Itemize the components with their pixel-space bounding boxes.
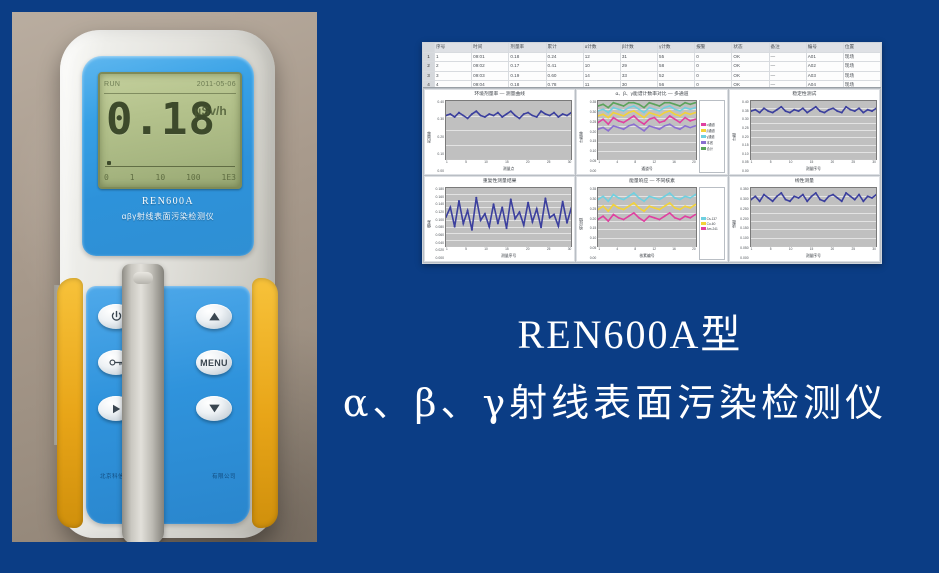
chart-series-point <box>810 109 812 111</box>
spreadsheet-cell: A03 <box>807 72 844 81</box>
chart-plot-area <box>597 100 696 160</box>
chart-series-point <box>536 116 538 118</box>
spreadsheet-cell: 0 <box>695 53 732 62</box>
chart-x-tick: 1 <box>446 160 448 167</box>
chart-series-point <box>639 217 641 219</box>
chart-y-ticks: 0.350.300.250.200.150.100.050.00 <box>584 187 597 260</box>
chart-legend: Cs-137Co-60Am-241 <box>699 187 725 260</box>
chart-series-point <box>613 102 615 104</box>
chart-series-point <box>784 199 786 201</box>
chart-series-line <box>598 213 695 221</box>
chart-series-point <box>549 115 551 117</box>
chart-x-tick: 4 <box>616 247 618 254</box>
chart-y-tick: 0.10 <box>737 152 749 156</box>
spreadsheet-cell: 09:03 <box>472 72 509 81</box>
lcd-status-left: RUN <box>104 81 120 88</box>
chart-series-point <box>562 113 564 115</box>
chart-series-point <box>664 125 666 127</box>
chart-x-ticks: 151015202530 <box>750 160 877 167</box>
chart-series-point <box>664 107 666 109</box>
chart-series-point <box>669 102 671 104</box>
chart-series-svg <box>598 188 695 246</box>
down-button[interactable] <box>196 396 232 421</box>
chart-series-point <box>497 112 499 114</box>
chart-x-tick: 10 <box>789 160 793 167</box>
chart-series-point <box>674 113 676 115</box>
chart-y-tick: 0.150 <box>737 226 749 230</box>
chart-series-point <box>557 116 559 118</box>
device-grip-pad-left <box>57 278 83 528</box>
spreadsheet-row: 3309:030.190.601433520OK—A03现场 <box>423 72 881 82</box>
chart-x-tick: 20 <box>526 160 530 167</box>
chart-series-point <box>832 194 834 196</box>
spreadsheet-cell: 09:02 <box>472 62 509 71</box>
chart-series-point <box>608 117 610 119</box>
chart-series-point <box>480 219 482 221</box>
chart-y-tick: 0.15 <box>584 226 596 230</box>
chart-series-point <box>506 227 508 229</box>
spreadsheet-header-row: 序号时间剂量率累计α计数β计数γ计数报警状态备注编号位置 <box>423 43 881 53</box>
chart-series-point <box>871 197 873 199</box>
chart-series-point <box>690 217 692 219</box>
chart-series-line <box>751 193 876 201</box>
lcd-scale-tick: 10 <box>156 173 166 182</box>
chart-series-point <box>679 128 681 130</box>
chart-series-point <box>659 199 661 201</box>
chart-y-tick: 0.25 <box>584 207 596 211</box>
chart-y-tick: 0.180 <box>432 187 444 191</box>
chart-y-tick: 0.20 <box>584 130 596 134</box>
chart-y-tick: 0.00 <box>737 169 749 173</box>
chart-series-point <box>608 220 610 222</box>
chart-series-point <box>484 213 486 215</box>
chart-series-point <box>628 125 630 127</box>
lcd-reading-unit: μSv/h <box>194 104 227 118</box>
chart-y-tick: 0.100 <box>737 236 749 240</box>
chart-series-point <box>669 115 671 117</box>
chart-series-point <box>669 212 671 214</box>
spreadsheet-cell: 0 <box>695 72 732 81</box>
chart-series-point <box>649 215 651 217</box>
chart-series-point <box>639 103 641 105</box>
chart-series-point <box>608 112 610 114</box>
chart-series-point <box>802 107 804 109</box>
chart-plot-area <box>445 187 572 247</box>
spreadsheet-header-cell: 备注 <box>770 43 807 52</box>
spreadsheet-row: 2209:020.170.411029580OK—A02现场 <box>423 62 881 72</box>
chart-series-point <box>862 200 864 202</box>
chart-x-tick: 20 <box>692 247 696 254</box>
chart-gridline <box>751 246 876 247</box>
chart-legend-swatch <box>701 141 706 144</box>
chart-y-tick: 0.250 <box>737 207 749 211</box>
chart-series-point <box>823 200 825 202</box>
chart-y-tick: 0.35 <box>584 100 596 104</box>
chart-series-point <box>836 197 838 199</box>
chart-plot-area <box>445 100 572 160</box>
chart-series-point <box>685 125 687 127</box>
chart-series-point <box>644 200 646 202</box>
chart-x-tick: 5 <box>770 160 772 167</box>
chart-series-point <box>613 125 615 127</box>
chart-x-ticks: 151015202530 <box>750 247 877 254</box>
spreadsheet-header-cell: γ计数 <box>658 43 695 52</box>
chart-series-point <box>608 130 610 132</box>
spreadsheet-cell: 0.78 <box>547 81 584 88</box>
chart-series-point <box>623 199 625 201</box>
chart-title: 环境剂量率 — 测量曲线 <box>425 90 574 100</box>
chart-legend-swatch <box>701 129 706 132</box>
chart-series-point <box>536 208 538 210</box>
chart-series-point <box>819 199 821 201</box>
chart-series-point <box>685 102 687 104</box>
spreadsheet-cell: 3 <box>435 72 472 81</box>
chart-series-point <box>540 110 542 112</box>
lcd-scale-tick: 100 <box>186 173 200 182</box>
chart-series-point <box>484 116 486 118</box>
chart-series-line <box>598 103 695 108</box>
chart-panel: 重复性测量结果偏差0.1800.1600.1400.1200.1000.0800… <box>424 176 575 262</box>
chart-y-ticks: 0.400.300.200.100.00 <box>432 100 445 173</box>
lcd-scale-tick: 0 <box>104 173 109 182</box>
product-photo: RUN 2011-05-06 0.18 μSv/h 01101001E3 REN… <box>12 12 317 560</box>
chart-legend-item: Am-241 <box>701 227 723 231</box>
chart-x-axis-title: 测量点 <box>445 167 572 173</box>
chart-series-point <box>633 115 635 117</box>
chart-series-point <box>531 115 533 117</box>
lcd-bargraph <box>105 162 235 167</box>
chart-series-point <box>608 107 610 109</box>
spreadsheet-cell: 现场 <box>844 53 881 62</box>
chart-y-ticks: 0.350.300.250.200.150.100.050.00 <box>584 100 597 173</box>
chart-series-point <box>674 118 676 120</box>
device-grip-pad-right <box>252 278 278 528</box>
chart-series-point <box>654 127 656 129</box>
chart-series-point <box>603 195 605 197</box>
title-block: REN600A型 α、β、γ射线表面污染检测仪 <box>300 310 930 429</box>
chart-series-svg <box>751 188 876 246</box>
chart-series-point <box>840 200 842 202</box>
chart-series-point <box>603 118 605 120</box>
chart-series-point <box>690 120 692 122</box>
chart-plot-wrap: 148121620核素编号 <box>597 187 696 260</box>
chart-series-point <box>608 210 610 212</box>
chart-series-point <box>633 192 635 194</box>
spreadsheet-cell: — <box>770 72 807 81</box>
chart-series-point <box>639 120 641 122</box>
chart-series-point <box>471 229 473 231</box>
spreadsheet-cell: 58 <box>658 62 695 71</box>
spreadsheet-cell: 11 <box>584 81 621 88</box>
data-spreadsheet: 序号时间剂量率累计α计数β计数γ计数报警状态备注编号位置1109:010.180… <box>423 43 881 88</box>
chart-legend-item: γ通道 <box>701 134 723 139</box>
chart-series-point <box>562 201 564 203</box>
chart-series-point <box>866 109 868 111</box>
chart-y-ticks: 0.400.350.300.250.200.150.100.050.00 <box>737 100 750 173</box>
menu-button[interactable]: MENU <box>196 350 232 375</box>
chart-series-point <box>449 113 451 115</box>
up-button[interactable] <box>196 304 232 329</box>
chart-legend-item: 本底 <box>701 140 723 145</box>
chart-gridline <box>598 159 695 160</box>
chart-y-tick: 0.35 <box>737 109 749 113</box>
chart-x-tick: 4 <box>616 160 618 167</box>
chart-gridline <box>446 246 571 247</box>
product-title-sub: α、β、γ射线表面污染检测仪 <box>300 378 930 429</box>
chart-series-point <box>649 112 651 114</box>
chart-x-tick: 8 <box>634 160 636 167</box>
chart-series-point <box>618 197 620 199</box>
chart-y-tick: 0.30 <box>584 197 596 201</box>
chart-legend-item: Cs-137 <box>701 217 723 221</box>
chart-series-point <box>664 215 666 217</box>
chart-series-point <box>659 105 661 107</box>
chart-y-tick: 0.020 <box>432 248 444 252</box>
spreadsheet-header-cell: 剂量率 <box>509 43 546 52</box>
chart-series-point <box>664 195 666 197</box>
chart-series-point <box>644 107 646 109</box>
spreadsheet-cell: 56 <box>658 81 695 88</box>
chart-panel: 线性测量读数0.3500.3000.2500.2000.1500.1000.05… <box>729 176 880 262</box>
chart-series-point <box>603 127 605 129</box>
chart-series-point <box>467 210 469 212</box>
chart-series-point <box>454 116 456 118</box>
chart-series-point <box>679 115 681 117</box>
chart-series-point <box>832 107 834 109</box>
chart-series-point <box>603 113 605 115</box>
chart-series-point <box>510 110 512 112</box>
chart-panel: α、β、γ能谱计数率对比 — 多通道计数率0.350.300.250.200.1… <box>576 89 727 175</box>
spreadsheet-cell: 0.19 <box>509 72 546 81</box>
chart-series-svg <box>598 101 695 159</box>
chart-series-point <box>810 195 812 197</box>
chart-series-point <box>623 122 625 124</box>
chart-series-point <box>628 205 630 207</box>
chart-series-point <box>659 115 661 117</box>
chart-series-point <box>628 215 630 217</box>
triangle-up-icon <box>208 311 221 322</box>
chart-series-point <box>690 103 692 105</box>
chart-series-svg <box>751 101 876 159</box>
spreadsheet-header-cell: 状态 <box>732 43 769 52</box>
chart-body: 计数率0.350.300.250.200.150.100.050.0014812… <box>577 100 726 174</box>
chart-x-axis-title: 核素编号 <box>597 254 696 260</box>
spreadsheet-row-index <box>423 43 435 52</box>
chart-series-point <box>664 120 666 122</box>
chart-series-point <box>544 113 546 115</box>
chart-legend-label: γ通道 <box>707 134 715 139</box>
chart-series-point <box>618 108 620 110</box>
chart-x-tick: 20 <box>692 160 696 167</box>
chart-gridline <box>598 246 695 247</box>
chart-series-point <box>633 105 635 107</box>
chart-x-tick: 15 <box>505 247 509 254</box>
chart-series-point <box>475 110 477 112</box>
chart-series-point <box>458 112 460 114</box>
chart-series-point <box>488 113 490 115</box>
spreadsheet-header-cell: 报警 <box>695 43 732 52</box>
chart-x-tick: 25 <box>852 247 856 254</box>
chart-series-point <box>690 108 692 110</box>
chart-x-tick: 8 <box>634 247 636 254</box>
chart-y-tick: 0.10 <box>432 152 444 156</box>
spreadsheet-cell: 0.18 <box>509 81 546 88</box>
chart-series-point <box>853 199 855 201</box>
spreadsheet-cell: 0.18 <box>509 53 546 62</box>
spreadsheet-cell: 0 <box>695 81 732 88</box>
chart-x-tick: 25 <box>852 160 856 167</box>
chart-series-point <box>633 110 635 112</box>
menu-button-label: MENU <box>200 358 228 368</box>
device-faceplate-top: RUN 2011-05-06 0.18 μSv/h 01101001E3 REN… <box>82 56 254 256</box>
chart-x-axis-title: 测量序号 <box>750 254 877 260</box>
chart-y-tick: 0.140 <box>432 202 444 206</box>
chart-series-point <box>514 218 516 220</box>
spreadsheet-cell: 12 <box>584 53 621 62</box>
chart-series-point <box>518 211 520 213</box>
chart-series-point <box>649 195 651 197</box>
chart-series-line <box>598 111 695 118</box>
chart-title: 线性测量 <box>730 177 879 187</box>
chart-series-point <box>679 110 681 112</box>
chart-body: 偏差0.1800.1600.1400.1200.1000.0800.0600.0… <box>425 187 574 261</box>
chart-series-point <box>679 209 681 211</box>
chart-series-point <box>669 110 671 112</box>
spreadsheet-cell: 52 <box>658 72 695 81</box>
chart-y-tick: 0.040 <box>432 241 444 245</box>
chart-series-point <box>814 192 816 194</box>
device-footer-text: 北京科信 有限公司 <box>86 472 250 480</box>
chart-series-point <box>674 108 676 110</box>
chart-legend-swatch <box>701 135 706 138</box>
product-title-main: REN600A型 <box>300 310 930 360</box>
device-center-grip <box>122 264 164 544</box>
chart-y-tick: 0.05 <box>737 160 749 164</box>
chart-series-point <box>776 195 778 197</box>
chart-series-point <box>514 115 516 117</box>
chart-series-point <box>628 118 630 120</box>
chart-series-point <box>679 199 681 201</box>
chart-x-tick: 10 <box>789 247 793 254</box>
chart-legend-swatch <box>701 227 706 230</box>
chart-x-tick: 12 <box>652 160 656 167</box>
chart-x-tick: 1 <box>751 247 753 254</box>
chart-series-point <box>510 198 512 200</box>
chart-series-point <box>467 117 469 119</box>
chart-y-tick: 0.200 <box>737 217 749 221</box>
spreadsheet-header-cell: 累计 <box>547 43 584 52</box>
chart-series-point <box>823 112 825 114</box>
chart-series-point <box>767 197 769 199</box>
chart-series-line <box>598 203 695 211</box>
chart-series-point <box>789 112 791 114</box>
chart-series-point <box>654 113 656 115</box>
chart-x-ticks: 148121620 <box>597 160 696 167</box>
chart-x-tick: 20 <box>526 247 530 254</box>
spreadsheet-header-cell: β计数 <box>621 43 658 52</box>
chart-title: 能量响应 — 不同核素 <box>577 177 726 187</box>
chart-series-point <box>639 108 641 110</box>
chart-series-point <box>669 123 671 125</box>
chart-legend-swatch <box>701 147 706 150</box>
spreadsheet-cell: 0.41 <box>547 62 584 71</box>
radiation-detector-device: RUN 2011-05-06 0.18 μSv/h 01101001E3 REN… <box>60 30 275 542</box>
chart-series-point <box>531 221 533 223</box>
spreadsheet-row-index: 1 <box>423 53 435 62</box>
chart-series-point <box>871 110 873 112</box>
chart-x-tick: 20 <box>831 160 835 167</box>
chart-plot-wrap: 151015202530测量序号 <box>445 187 572 260</box>
chart-series-point <box>449 206 451 208</box>
spreadsheet-cell: 33 <box>621 72 658 81</box>
chart-y-tick: 0.00 <box>432 169 444 173</box>
chart-legend-label: 合计 <box>707 146 713 151</box>
chart-series-point <box>527 202 529 204</box>
chart-series-point <box>649 205 651 207</box>
chart-y-tick: 0.20 <box>737 135 749 139</box>
chart-series-point <box>493 203 495 205</box>
chart-series-point <box>633 102 635 104</box>
chart-y-tick: 0.20 <box>432 135 444 139</box>
chart-series-point <box>784 110 786 112</box>
chart-series-point <box>797 197 799 199</box>
chart-series-point <box>654 217 656 219</box>
chart-legend-label: Co-60 <box>707 222 716 226</box>
chart-legend-label: β通道 <box>707 128 715 133</box>
chart-series-point <box>853 110 855 112</box>
chart-series-point <box>674 127 676 129</box>
chart-series-point <box>669 202 671 204</box>
spreadsheet-cell: OK <box>732 81 769 88</box>
chart-x-tick: 30 <box>872 247 876 254</box>
chart-x-tick: 12 <box>652 247 656 254</box>
device-footer-right: 有限公司 <box>212 472 236 480</box>
device-grip-nub <box>133 272 153 284</box>
chart-series-point <box>690 127 692 129</box>
chart-series-point <box>862 112 864 114</box>
spreadsheet-header-cell: 序号 <box>435 43 472 52</box>
chart-series-point <box>623 128 625 130</box>
chart-y-tick: 0.050 <box>737 246 749 250</box>
power-icon <box>110 310 123 323</box>
chart-series-point <box>827 195 829 197</box>
chart-series-point <box>618 127 620 129</box>
chart-series-point <box>488 226 490 228</box>
chart-series-point <box>603 103 605 105</box>
chart-series-point <box>618 207 620 209</box>
chart-y-tick: 0.120 <box>432 210 444 214</box>
chart-series-point <box>674 217 676 219</box>
chart-y-tick: 0.060 <box>432 233 444 237</box>
chart-series-point <box>690 113 692 115</box>
chart-plot-wrap: 151015202530测量序号 <box>750 187 877 260</box>
spreadsheet-cell: 1 <box>435 53 472 62</box>
chart-series-point <box>523 224 525 226</box>
chart-series-point <box>633 202 635 204</box>
chart-series-line <box>598 116 695 124</box>
chart-x-ticks: 148121620 <box>597 247 696 254</box>
chart-series-svg <box>446 101 571 159</box>
chart-series-point <box>793 109 795 111</box>
spreadsheet-header-cell: α计数 <box>584 43 621 52</box>
chart-series-point <box>806 112 808 114</box>
chart-series-point <box>613 194 615 196</box>
chart-series-point <box>553 214 555 216</box>
chart-series-point <box>618 120 620 122</box>
chart-plot-wrap: 151015202530测量序号 <box>750 100 877 173</box>
chart-series-point <box>644 130 646 132</box>
chart-series-point <box>501 116 503 118</box>
